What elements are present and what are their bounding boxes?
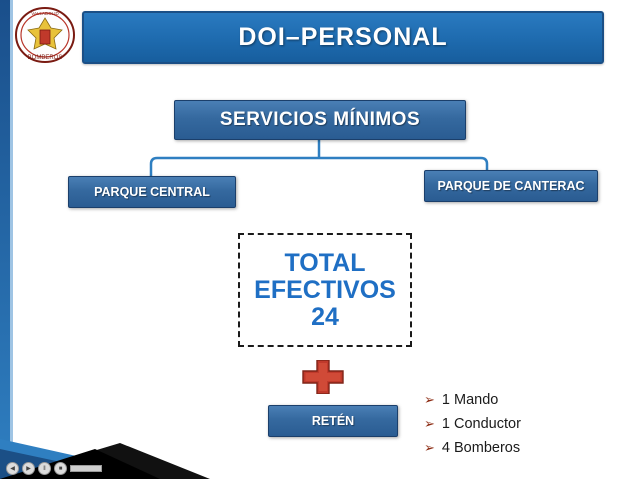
svg-text:VALLADOLID: VALLADOLID (31, 11, 59, 16)
page-title-text: DOI–PERSONAL (238, 23, 447, 52)
progress-bar[interactable] (70, 465, 102, 472)
list-item-label: 1 Mando (442, 389, 498, 412)
pause-button[interactable]: ‖ (38, 462, 51, 475)
svg-text:BOMBEROS: BOMBEROS (28, 55, 63, 61)
total-value: 24 (311, 304, 339, 331)
media-player-controls[interactable]: ◀ ▶ ‖ ■ (6, 462, 102, 475)
page-title: DOI–PERSONAL (82, 11, 604, 64)
node-servicios-minimos[interactable]: SERVICIOS MÍNIMOS (174, 100, 466, 140)
left-accent-bar (0, 0, 10, 479)
play-button[interactable]: ▶ (22, 462, 35, 475)
left-accent-bar-inner (10, 0, 13, 479)
node-parque-canterac[interactable]: PARQUE DE CANTERAC (424, 170, 598, 202)
prev-button[interactable]: ◀ (6, 462, 19, 475)
node-servicios-minimos-label: SERVICIOS MÍNIMOS (220, 109, 420, 131)
node-parque-canterac-label: PARQUE DE CANTERAC (438, 179, 585, 193)
stop-button[interactable]: ■ (54, 462, 67, 475)
total-label-line1: TOTAL (284, 250, 365, 277)
medical-cross-icon (302, 360, 344, 394)
node-parque-central[interactable]: PARQUE CENTRAL (68, 176, 236, 208)
list-item: ➢ 1 Mando (424, 388, 624, 412)
total-efectivos-box: TOTAL EFECTIVOS 24 (238, 233, 412, 347)
node-parque-central-label: PARQUE CENTRAL (94, 185, 210, 199)
arrow-bullet-icon: ➢ (424, 388, 435, 411)
bomberos-emblem-icon: BOMBEROS VALLADOLID (14, 6, 76, 64)
total-label-line2: EFECTIVOS (254, 277, 396, 304)
